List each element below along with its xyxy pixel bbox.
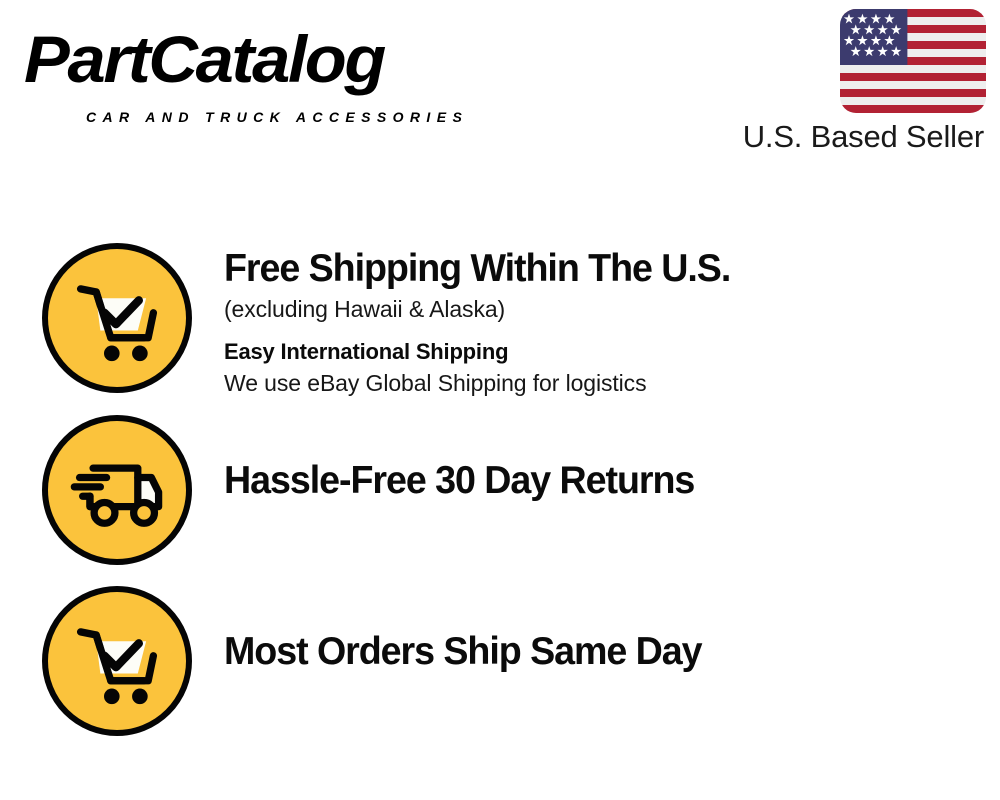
brand-logo: PartCatalog CAR AND TRUCK ACCESSORIES [24,22,494,118]
feature-subtitle: (excluding Hawaii & Alaska) [224,293,964,325]
feature-text: Hassle-Free 30 Day Returns [224,457,964,505]
feature-title: Free Shipping Within The U.S. [224,245,938,293]
brand-wordmark: PartCatalog [24,22,384,96]
feature-title: Hassle-Free 30 Day Returns [224,457,938,505]
feature-text: Free Shipping Within The U.S. (excluding… [224,245,964,399]
us-flag-icon [840,9,986,113]
feature-sub-plain: We use eBay Global Shipping for logistic… [224,367,964,399]
feature-sub-strong: Easy International Shipping [224,337,964,367]
feature-title: Most Orders Ship Same Day [224,628,938,676]
shopping-cart-check-icon [42,586,192,736]
delivery-truck-icon [42,415,192,565]
brand-tagline: CAR AND TRUCK ACCESSORIES [86,108,468,126]
promo-banner: PartCatalog CAR AND TRUCK ACCESSORIES [0,0,1000,800]
seller-note: U.S. Based Seller [560,118,984,156]
shopping-cart-check-icon [42,243,192,393]
feature-text: Most Orders Ship Same Day [224,628,964,676]
